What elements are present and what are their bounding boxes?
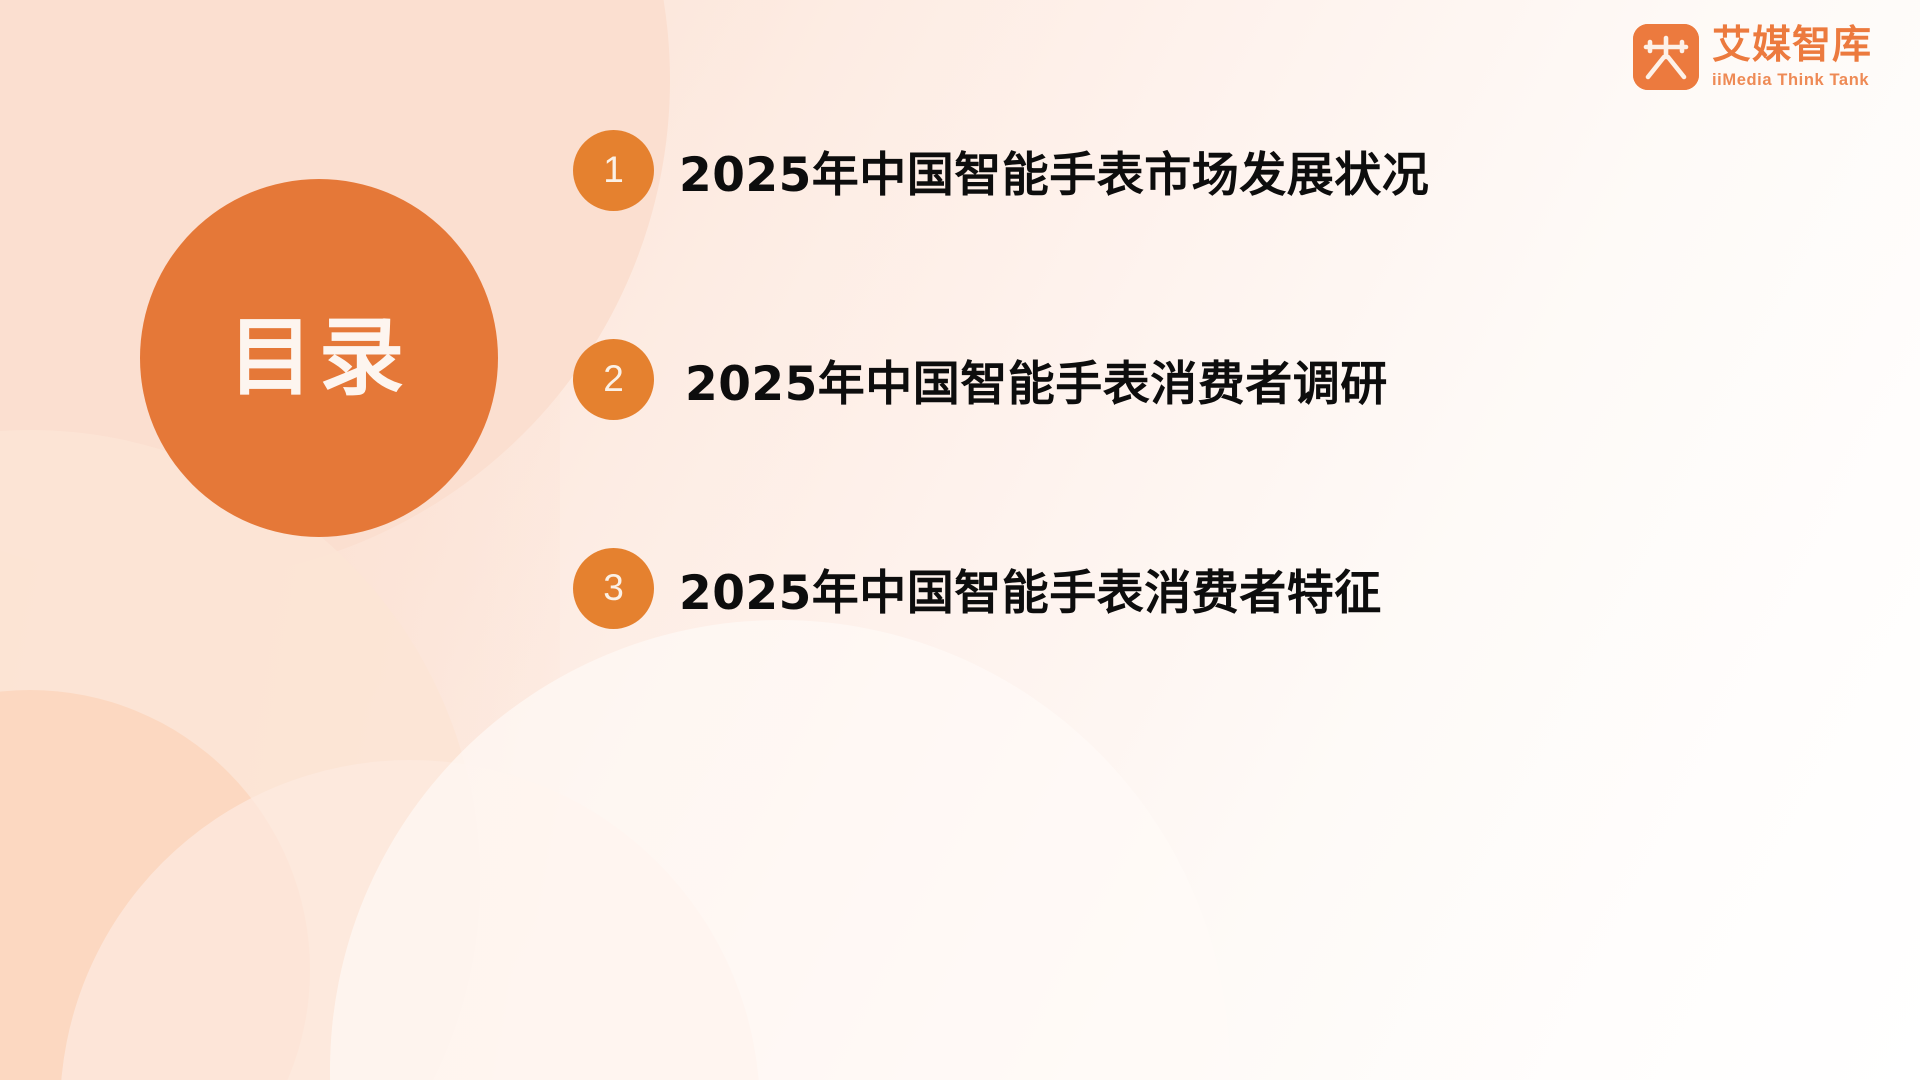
toc-item-label-3: 2025年中国智能手表消费者特征 (679, 554, 1382, 623)
toc-item-1[interactable]: 1 2025年中国智能手表市场发展状况 (573, 122, 1753, 218)
toc-item-number-badge-1: 1 (573, 130, 654, 211)
toc-item-label-2: 2025年中国智能手表消费者调研 (685, 345, 1388, 414)
brand-logo: 艾媒智库 iiMedia Think Tank (1633, 24, 1872, 90)
slide-canvas: 艾媒智库 iiMedia Think Tank 目录 1 2025年中国智能手表… (0, 0, 1920, 1080)
toc-item-number-badge-2: 2 (573, 339, 654, 420)
toc-heading-circle: 目录 (140, 179, 498, 537)
toc-heading-label: 目录 (228, 316, 410, 401)
toc-list: 1 2025年中国智能手表市场发展状况 2 2025年中国智能手表消费者调研 3… (573, 122, 1753, 636)
brand-logo-text: 艾媒智库 iiMedia Think Tank (1712, 26, 1872, 89)
toc-item-label-1: 2025年中国智能手表市场发展状况 (679, 136, 1429, 205)
toc-item-3[interactable]: 3 2025年中国智能手表消费者特征 (573, 540, 1753, 636)
brand-name-en: iiMedia Think Tank (1712, 72, 1872, 89)
brand-name-cn: 艾媒智库 (1712, 26, 1872, 65)
iimedia-logo-icon (1633, 24, 1699, 90)
toc-item-number-badge-3: 3 (573, 548, 654, 629)
toc-item-2[interactable]: 2 2025年中国智能手表消费者调研 (573, 331, 1753, 427)
